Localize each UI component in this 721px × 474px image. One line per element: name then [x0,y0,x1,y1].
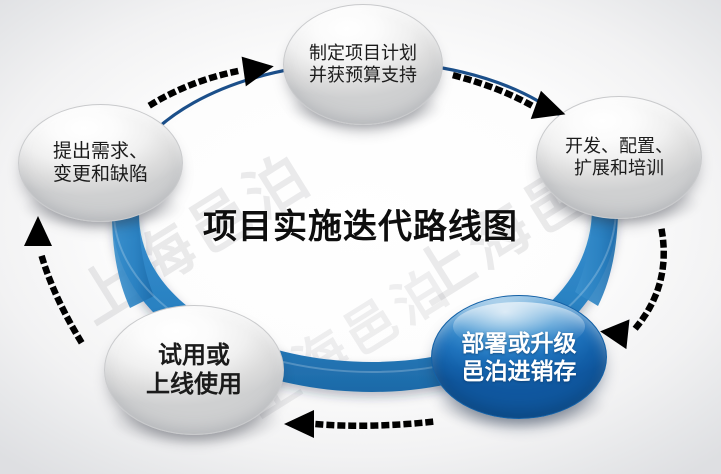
node-plan-label: 制定项目计划 并获预算支持 [309,43,417,87]
node-develop-label: 开发、配置、 扩展和培训 [565,136,673,180]
connector-deploy-to-pilot [284,410,430,438]
connector-plan-to-develop [456,76,570,128]
node-deploy-label: 部署或升级 邑泊进销存 [462,329,577,385]
node-requirements-label: 提出需求、 变更和缺陷 [53,140,148,186]
page-title: 项目实施迭代路线图 [0,199,721,248]
diagram-canvas: 上海邑泊 上海邑泊 上海邑泊 [0,0,721,474]
connector-develop-to-deploy [599,232,664,349]
connector-requirements-to-plan [152,51,276,104]
node-pilot-label: 试用或 上线使用 [146,341,242,400]
